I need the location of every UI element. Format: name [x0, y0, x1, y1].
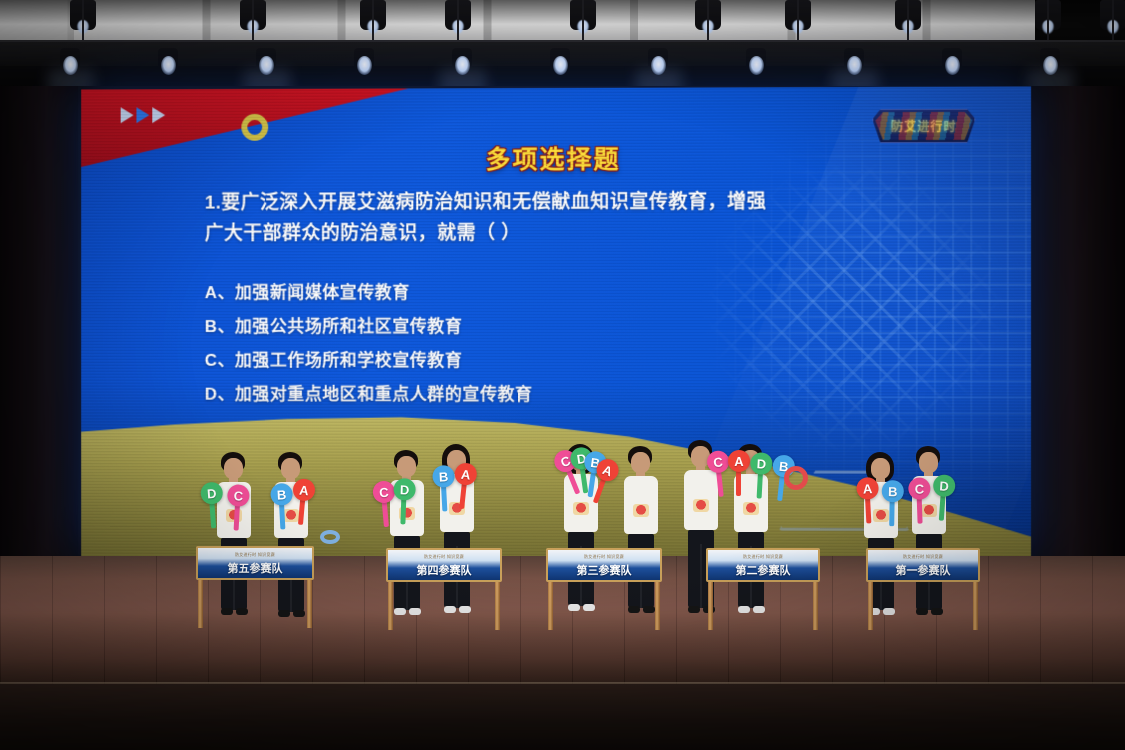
spotlight-glow — [553, 56, 568, 75]
desk-leg — [198, 580, 203, 628]
spotlight-glow — [161, 56, 176, 75]
red-ring-prop — [784, 466, 808, 490]
spotlight-glow — [357, 56, 372, 75]
shoe — [688, 606, 700, 613]
head — [281, 458, 300, 479]
desk-leg — [973, 582, 978, 630]
light-rod — [82, 0, 84, 44]
desk-banner-subtitle: 防艾进行时 知识竞赛 — [388, 554, 500, 560]
tshirt-logo — [743, 502, 759, 515]
desk-banner-subtitle: 防艾进行时 知识竞赛 — [548, 554, 660, 560]
desk-leg — [708, 582, 713, 630]
desk-team-label: 第五参赛队 — [228, 560, 283, 576]
tshirt-logo — [633, 504, 649, 517]
desk-team-label: 第四参赛队 — [417, 562, 472, 578]
light-rod — [907, 0, 909, 44]
desk-banner-subtitle: 防艾进行时 知识竞赛 — [708, 554, 818, 560]
paddle-handle — [400, 498, 406, 524]
light-rod — [707, 0, 709, 44]
light-rod — [457, 0, 459, 44]
team-desk: 防艾进行时 知识竞赛第二参赛队 — [706, 548, 820, 628]
desk-leg — [307, 580, 312, 628]
tshirt-logo — [573, 502, 589, 515]
light-rod — [1047, 0, 1049, 44]
tshirt-logo — [873, 509, 889, 522]
head — [397, 456, 416, 477]
paddle-handle — [917, 498, 923, 524]
desk-team-label: 第三参赛队 — [577, 562, 632, 578]
light-rod — [1112, 0, 1114, 44]
desk-banner: 防艾进行时 知识竞赛第一参赛队 — [866, 548, 980, 582]
ceiling-shadow — [0, 0, 1125, 44]
desk-team-label: 第一参赛队 — [896, 562, 951, 578]
spotlight-glow — [749, 56, 764, 75]
desk-leg — [868, 582, 873, 630]
desk-banner: 防艾进行时 知识竞赛第二参赛队 — [706, 548, 820, 582]
desk-team-label: 第二参赛队 — [736, 562, 791, 578]
team-desk: 防艾进行时 知识竞赛第四参赛队 — [386, 548, 502, 628]
light-rod — [797, 0, 799, 44]
desk-banner: 防艾进行时 知识竞赛第三参赛队 — [546, 548, 662, 582]
ring-prop — [320, 530, 340, 544]
desk-banner: 防艾进行时 知识竞赛第五参赛队 — [196, 546, 314, 580]
spotlight-glow — [945, 56, 960, 75]
leg-gap — [700, 544, 702, 608]
team-desk: 防艾进行时 知识竞赛第一参赛队 — [866, 548, 980, 628]
tshirt-logo — [693, 499, 709, 512]
desk-leg — [813, 582, 818, 630]
light-rod — [252, 0, 254, 44]
head — [224, 458, 243, 479]
team-desk: 防艾进行时 知识竞赛第三参赛队 — [546, 548, 662, 628]
stage-apron — [0, 684, 1125, 750]
head — [919, 452, 938, 473]
paddle-handle — [736, 470, 741, 496]
desk-leg — [655, 582, 660, 630]
desk-leg — [495, 582, 500, 630]
tshirt-logo — [283, 509, 299, 522]
stage-room: 防艾进行时 多项选择题 1.要广泛深入开展艾滋病防治知识和无偿献血知识宣传教育，… — [0, 0, 1125, 750]
desk-leg — [548, 582, 553, 630]
light-rod — [372, 0, 374, 44]
team-desk: 防艾进行时 知识竞赛第五参赛队 — [196, 546, 314, 626]
light-rod — [582, 0, 584, 44]
tshirt-logo — [921, 504, 937, 517]
head — [631, 452, 650, 473]
paddle-letter: A — [728, 450, 750, 472]
head — [871, 458, 890, 479]
desk-banner-subtitle: 防艾进行时 知识竞赛 — [198, 552, 312, 558]
paddle-handle — [889, 500, 894, 526]
desk-leg — [388, 582, 393, 630]
desk-banner: 防艾进行时 知识竞赛第四参赛队 — [386, 548, 502, 582]
desk-banner-subtitle: 防艾进行时 知识竞赛 — [868, 554, 978, 560]
